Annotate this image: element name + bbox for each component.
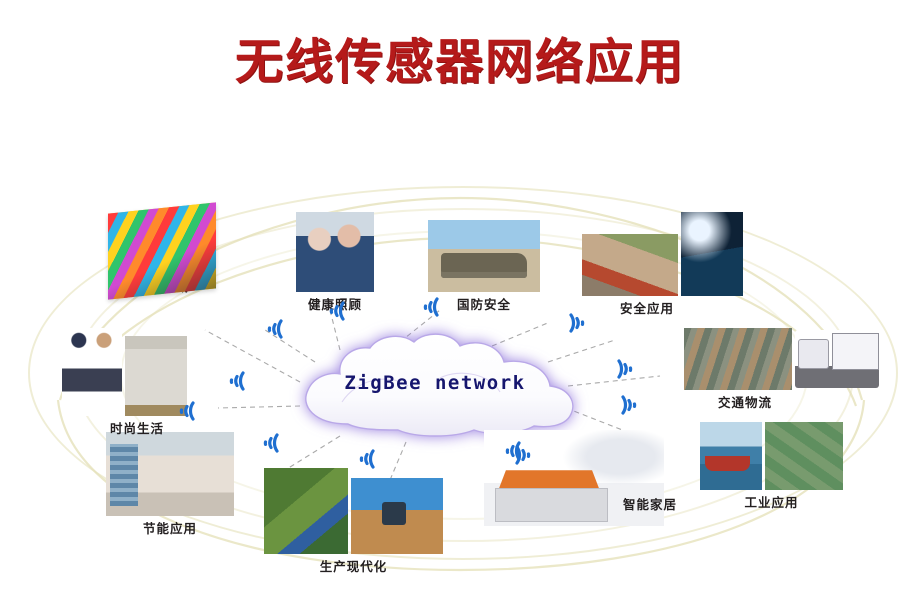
wifi-signal-icon [260,318,286,340]
military-tank-photo [428,220,540,292]
node-smart-home-label: 智能家居 [610,494,690,513]
node-safety-applications-images [582,212,743,296]
node-transport-logistics-images [684,328,879,390]
wifi-signal-icon [322,300,348,322]
node-safety-applications-label: 安全应用 [582,298,743,317]
night-industrial-plant-photo [681,212,743,296]
node-safety-applications[interactable]: 安全应用 [582,212,743,317]
cloud-label: ZigBee network [290,372,580,394]
wifi-signal-icon [222,370,248,392]
page-title: 无线传感器网络应用 [0,32,920,92]
nurse-and-patient-photo [296,212,374,292]
wifi-signal-icon [498,440,524,462]
wifi-signal-icon [618,394,644,416]
wifi-signal-icon [614,358,640,380]
wifi-signal-icon [566,312,592,334]
node-new-fields[interactable]: 全新领域 [108,208,216,295]
node-national-defense[interactable]: 国防安全 [428,220,540,313]
disaster-rubble-photo [582,234,678,296]
delivery-truck-photo [795,330,879,388]
node-production-modernization[interactable]: 生产现代化 [264,468,443,575]
factory-machinery-photo [765,422,843,490]
node-transport-logistics[interactable]: 交通物流 [684,328,879,411]
node-new-fields-images [108,208,216,294]
node-fashion-life-label: 时尚生活 [62,418,187,437]
diagram-stage: ZigBee network 全新领域 健康照顾 国防安全 [0,150,920,594]
node-energy-saving-images [106,432,234,516]
node-transport-logistics-label: 交通物流 [684,392,879,411]
freight-railyard-photo [684,328,792,390]
slide-canvas: 无线传感器网络应用 [0,0,920,594]
node-production-modernization-images [264,468,443,554]
node-national-defense-images [428,220,540,292]
cargo-ship-photo [700,422,762,490]
node-health-care[interactable]: 健康照顾 [296,212,374,313]
layered-colorful-sheets-photo [108,202,216,299]
wifi-signal-icon [256,432,282,454]
node-energy-saving[interactable]: 节能应用 [106,432,234,537]
greenhouse-worker-photo [264,468,348,554]
node-health-care-images [296,212,374,292]
wifi-signal-icon [172,400,198,422]
node-fashion-life[interactable]: 时尚生活 [62,328,187,437]
tractor-field-photo [351,478,443,554]
node-industrial-applications-images [700,422,843,490]
node-energy-saving-label: 节能应用 [106,518,234,537]
wifi-signal-icon [352,448,378,470]
modern-office-interior-photo [106,432,234,516]
two-people-walking-photo [62,328,122,416]
node-production-modernization-label: 生产现代化 [264,556,443,575]
node-fashion-life-images [62,328,187,416]
node-industrial-applications-label: 工业应用 [700,492,843,511]
node-industrial-applications[interactable]: 工业应用 [700,422,843,511]
wifi-signal-icon [416,296,442,318]
node-national-defense-label: 国防安全 [428,294,540,313]
